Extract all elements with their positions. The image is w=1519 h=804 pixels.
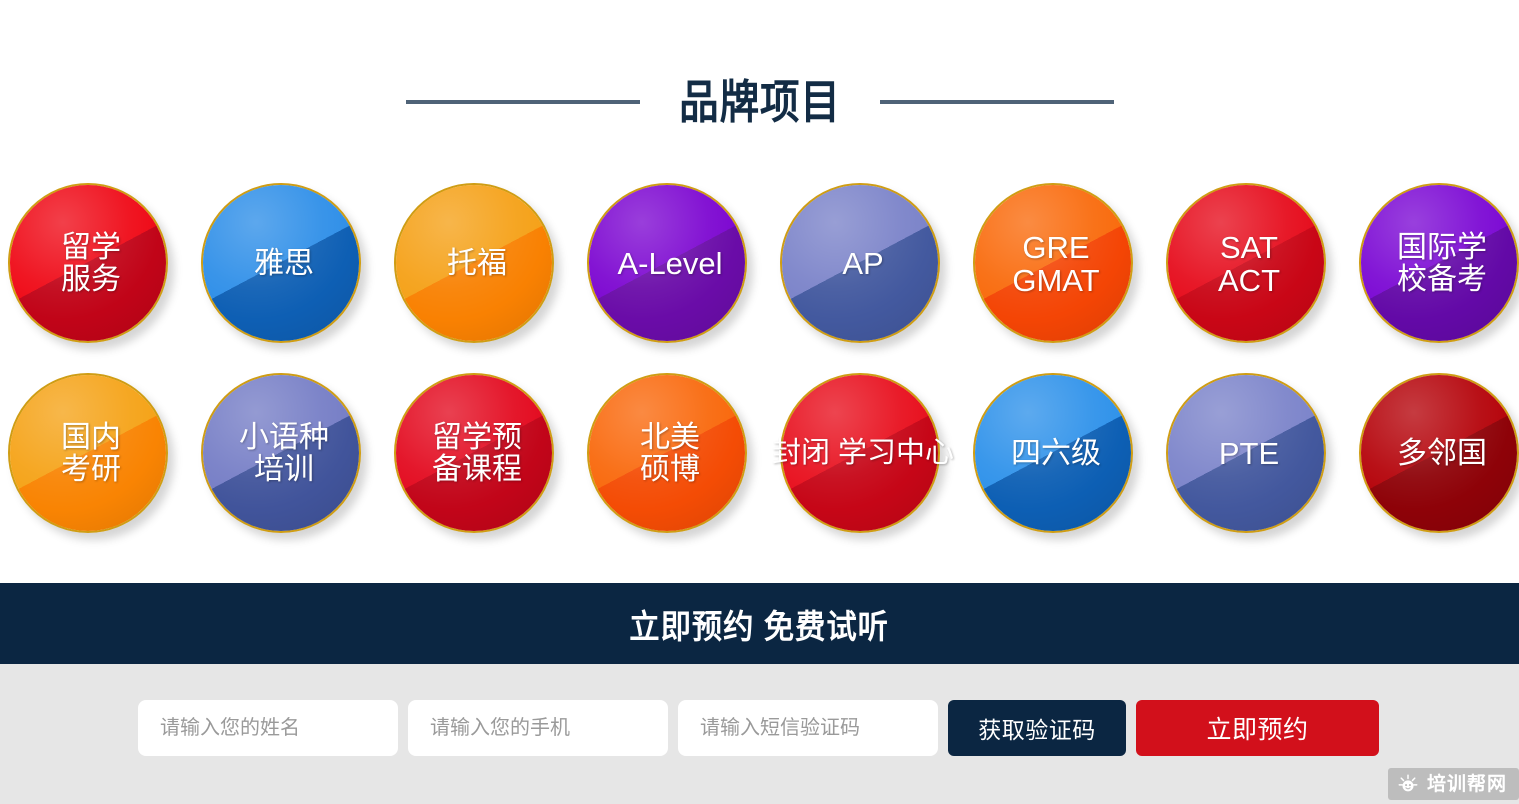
program-bubble-tuofu[interactable]: 托福 xyxy=(394,183,554,343)
program-label: 多邻国 xyxy=(1391,436,1487,470)
program-label: 留学 服务 xyxy=(55,230,121,297)
program-grid: 留学 服务 雅思 托福 A-Level AP GRE GMAT xyxy=(8,183,1519,533)
program-label: 国内 考研 xyxy=(55,420,121,487)
sms-code-input[interactable] xyxy=(678,700,938,756)
program-bubble-fengbi-xuexi-zhongxin[interactable]: 封闭 学习中心 xyxy=(780,373,940,533)
program-label: 国际学 校备考 xyxy=(1391,230,1487,297)
signup-form-strip: 获取验证码 立即预约 xyxy=(0,664,1519,804)
page-title: 品牌项目 xyxy=(679,79,841,125)
program-bubble-guoji-xuexiao-beikao[interactable]: 国际学 校备考 xyxy=(1359,183,1519,343)
program-label: 小语种 培训 xyxy=(233,420,329,487)
program-bubble-xiaoyuzhong-peixun[interactable]: 小语种 培训 xyxy=(201,373,361,533)
get-sms-code-button[interactable]: 获取验证码 xyxy=(948,700,1126,756)
signup-form: 获取验证码 立即预约 xyxy=(138,700,1379,756)
program-label: 雅思 xyxy=(248,246,314,280)
watermark-label: 培训帮网 xyxy=(1427,775,1507,794)
program-label: 留学预 备课程 xyxy=(426,420,522,487)
program-bubble-yasi[interactable]: 雅思 xyxy=(201,183,361,343)
program-bubble-pte[interactable]: PTE xyxy=(1166,373,1326,533)
program-label: PTE xyxy=(1213,435,1279,470)
program-bubble-ap[interactable]: AP xyxy=(780,183,940,343)
sun-face-icon xyxy=(1397,773,1419,795)
program-bubble-siliuji[interactable]: 四六级 xyxy=(973,373,1133,533)
phone-input[interactable] xyxy=(408,700,668,756)
program-bubble-beimei-shuobo[interactable]: 北美 硕博 xyxy=(587,373,747,533)
program-bubble-a-level[interactable]: A-Level xyxy=(587,183,747,343)
cta-banner: 立即预约 免费试听 xyxy=(0,583,1519,664)
program-label: 四六级 xyxy=(1005,436,1101,470)
program-label: GRE GMAT xyxy=(1006,229,1099,298)
program-bubble-gre-gmat[interactable]: GRE GMAT xyxy=(973,183,1133,343)
program-bubble-liuxue-yubei-kecheng[interactable]: 留学预 备课程 xyxy=(394,373,554,533)
program-label: AP xyxy=(836,245,883,280)
program-row-1: 留学 服务 雅思 托福 A-Level AP GRE GMAT xyxy=(8,183,1519,343)
program-label: SAT ACT xyxy=(1212,229,1280,298)
program-bubble-liuxue-fuwu[interactable]: 留学 服务 xyxy=(8,183,168,343)
heading-rule-left xyxy=(406,100,640,104)
program-label: 北美 硕博 xyxy=(634,420,700,487)
program-bubble-guonei-kaoyan[interactable]: 国内 考研 xyxy=(8,373,168,533)
program-label: 托福 xyxy=(441,246,507,280)
site-watermark: 培训帮网 xyxy=(1388,768,1519,800)
submit-reservation-button[interactable]: 立即预约 xyxy=(1136,700,1379,756)
heading-rule-right xyxy=(880,100,1114,104)
page-root: 品牌项目 留学 服务 雅思 托福 A-Level AP xyxy=(0,0,1519,804)
program-bubble-sat-act[interactable]: SAT ACT xyxy=(1166,183,1326,343)
name-input[interactable] xyxy=(138,700,398,756)
program-label: A-Level xyxy=(611,245,722,280)
program-label: 封闭 学习中心 xyxy=(766,436,954,469)
program-bubble-duolinguo[interactable]: 多邻国 xyxy=(1359,373,1519,533)
section-heading: 品牌项目 xyxy=(0,62,1519,142)
program-row-2: 国内 考研 小语种 培训 留学预 备课程 北美 硕博 封闭 学习中心 四六级 xyxy=(8,373,1519,533)
cta-banner-text: 立即预约 免费试听 xyxy=(630,600,890,648)
